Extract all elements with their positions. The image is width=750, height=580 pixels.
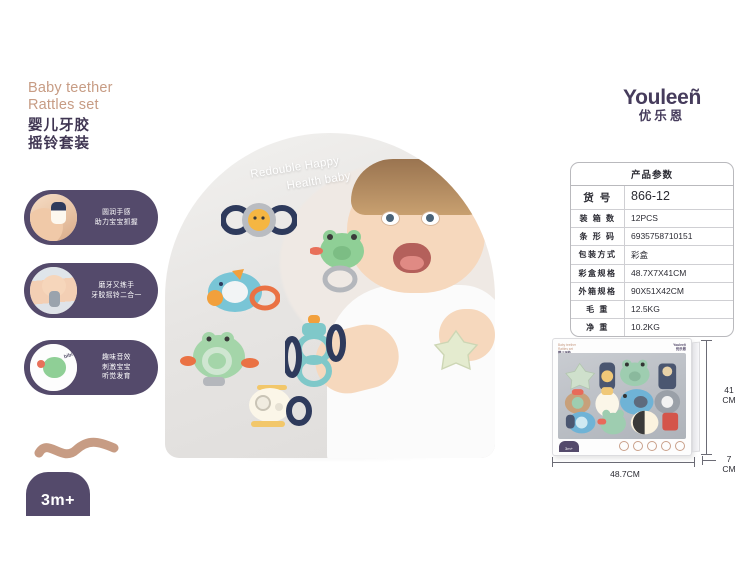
spec-value: 10.2KG <box>625 319 733 336</box>
toy-helicopter-rattle <box>243 383 313 431</box>
spec-table: 产品参数 货 号 866-12 装 箱 数 12PCS 条 形 码 693575… <box>570 162 734 337</box>
table-row: 彩盒规格 48.7X7X41CM <box>571 265 733 283</box>
feature-pill-teething: 磨牙又练手 牙胶摇铃二合一 <box>24 263 158 318</box>
age-badge: 3m+ <box>26 472 90 516</box>
brand-logo: Youleeñ 优乐恩 <box>600 86 724 124</box>
feature-grip-line1: 圆润手感 <box>79 208 154 218</box>
title-chinese-line2: 摇铃套装 <box>28 136 178 154</box>
title-english: Baby teether Rattles set <box>28 80 178 113</box>
toy-frog-rattle <box>310 229 376 293</box>
baby-chewing-teether-photo <box>28 265 79 316</box>
title-chinese: 婴儿牙胶 摇铃套装 <box>28 118 178 153</box>
box-brand-cn: 优乐恩 <box>673 347 686 351</box>
box-age-badge: 3m+ <box>559 441 579 452</box>
dim-depth-label: 7 CM <box>714 454 744 474</box>
cert-icon-5 <box>675 441 685 451</box>
hero-lifestyle-image: Redouble Happy Health baby <box>165 133 495 458</box>
spec-value: 90X51X42CM <box>625 283 733 300</box>
dim-height-unit: CM <box>714 395 744 405</box>
package-box-photo: Baby teether Rattles set 婴儿牙胶 摇铃套装 Youle… <box>552 338 692 456</box>
spec-value: 866-12 <box>625 186 733 209</box>
spec-value: 48.7X7X41CM <box>625 265 733 282</box>
dim-height-cap-bottom <box>701 454 712 455</box>
feature-pill-grip-text: 圆润手感 助力宝宝抓握 <box>79 208 158 227</box>
dim-depth-unit: CM <box>714 464 744 474</box>
baby-photo <box>321 159 495 458</box>
table-row: 毛 重 12.5KG <box>571 301 733 319</box>
feature-pill-teething-text: 磨牙又练手 牙胶摇铃二合一 <box>79 281 158 300</box>
spec-key: 毛 重 <box>571 301 625 318</box>
cert-icon-2 <box>633 441 643 451</box>
title-chinese-line1: 婴儿牙胶 <box>28 118 178 136</box>
dim-depth-value: 7 <box>714 454 744 464</box>
table-row: 货 号 866-12 <box>571 186 733 210</box>
table-row: 外箱规格 90X51X42CM <box>571 283 733 301</box>
feature-grip-line2: 助力宝宝抓握 <box>79 218 154 228</box>
green-frog-rattle-photo: bibi <box>28 342 79 393</box>
brand-name-chinese: 优乐恩 <box>600 109 724 124</box>
spec-key: 包装方式 <box>571 246 625 264</box>
spec-key: 货 号 <box>571 186 625 209</box>
toy-bottle-teether <box>285 313 347 387</box>
toy-chick-rattle <box>221 198 297 242</box>
title-english-line1: Baby teether <box>28 80 178 97</box>
spec-key: 净 重 <box>571 319 625 336</box>
box-toys-layout <box>558 353 686 439</box>
box-depth-side <box>692 342 700 453</box>
spec-value: 12PCS <box>625 210 733 227</box>
squiggle-decoration <box>34 437 120 463</box>
dim-width-label: 48.7CM <box>570 469 680 479</box>
spec-value: 6935758710151 <box>625 228 733 245</box>
dim-width-line <box>552 462 694 463</box>
cert-icon-4 <box>661 441 671 451</box>
feature-teething-line2: 牙胶摇铃二合一 <box>79 291 154 301</box>
box-tray <box>558 353 686 439</box>
table-row: 包装方式 彩盒 <box>571 246 733 265</box>
cert-icon-3 <box>647 441 657 451</box>
hand-holding-rattle-photo <box>28 192 79 243</box>
spec-key: 条 形 码 <box>571 228 625 245</box>
feature-pill-sound-text: 趣味音效 刺激宝宝 听觉发育 <box>79 353 158 382</box>
title-english-line2: Rattles set <box>28 97 178 114</box>
feature-pill-sound: bibi 趣味音效 刺激宝宝 听觉发育 <box>24 340 158 395</box>
box-certification-icons <box>619 441 685 451</box>
toy-bird-rattle <box>202 268 280 320</box>
feature-pill-grip: 圆润手感 助力宝宝抓握 <box>24 190 158 245</box>
dim-height-label: 41 CM <box>714 385 744 405</box>
spec-key: 装 箱 数 <box>571 210 625 227</box>
product-title-block: Baby teether Rattles set 婴儿牙胶 摇铃套装 <box>28 80 178 153</box>
package-box: Baby teether Rattles set 婴儿牙胶 摇铃套装 Youle… <box>552 338 692 456</box>
toy-crab-rattle <box>179 329 261 391</box>
spec-key: 彩盒规格 <box>571 265 625 282</box>
table-row: 条 形 码 6935758710151 <box>571 228 733 246</box>
toy-star-teether <box>433 328 479 374</box>
feature-sound-line1: 趣味音效 <box>79 353 154 363</box>
product-detail-page: Baby teether Rattles set 婴儿牙胶 摇铃套装 圆润手感 … <box>0 0 750 580</box>
dim-width-cap-right <box>694 457 695 467</box>
cert-icon-1 <box>619 441 629 451</box>
dim-height-value: 41 <box>714 385 744 395</box>
feature-teething-line1: 磨牙又练手 <box>79 281 154 291</box>
dim-height-line <box>706 340 707 454</box>
table-row: 净 重 10.2KG <box>571 319 733 336</box>
dim-height-cap-top <box>701 340 712 341</box>
dim-width-cap-left <box>552 457 553 467</box>
brand-name-english: Youleeñ <box>600 86 724 109</box>
spec-key: 外箱规格 <box>571 283 625 300</box>
table-row: 装 箱 数 12PCS <box>571 210 733 228</box>
spec-table-header: 产品参数 <box>571 163 733 186</box>
feature-sound-line3: 听觉发育 <box>79 372 154 382</box>
feature-sound-line2: 刺激宝宝 <box>79 363 154 373</box>
box-brand: Youleeñ 优乐恩 <box>673 343 686 351</box>
spec-value: 彩盒 <box>625 246 733 264</box>
dim-depth-cap-left <box>702 456 703 465</box>
spec-value: 12.5KG <box>625 301 733 318</box>
